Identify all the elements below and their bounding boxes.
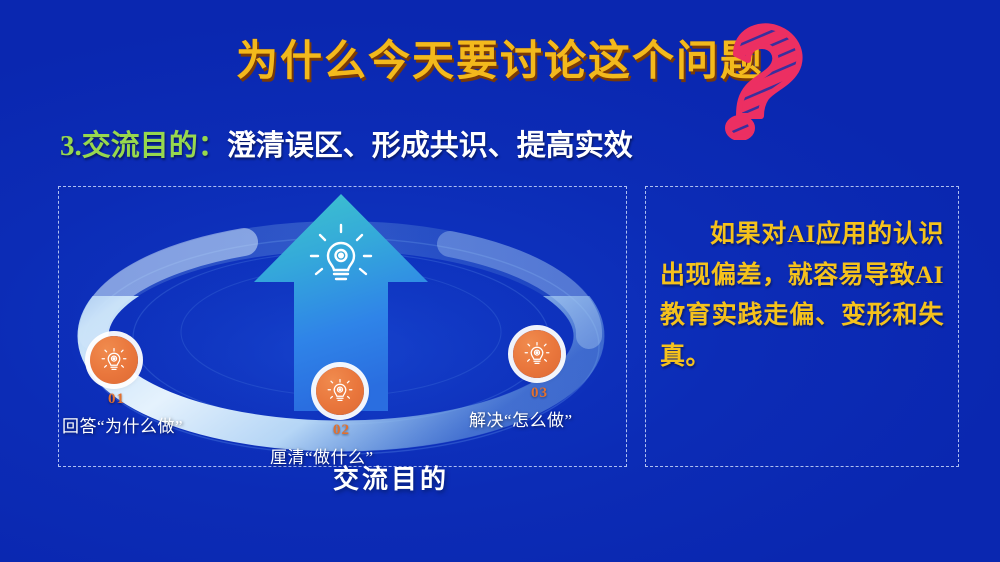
subtitle-index: 3.交流目的： [60, 130, 227, 162]
node-number-01: 01 [108, 391, 125, 408]
node-label-01: 回答“为什么做” [62, 412, 183, 437]
subtitle-text: 澄清误区、形成共识、提高实效 [227, 130, 633, 162]
node-number-03: 03 [531, 385, 548, 402]
page-title: 为什么今天要讨论这个问题 [0, 27, 1000, 88]
node-label-02: 厘清“做什么” [270, 443, 374, 468]
purpose-diagram: 交流目的 01 回答“为 [58, 186, 625, 465]
diagram-node-02[interactable] [316, 367, 364, 415]
node-number-02: 02 [333, 422, 350, 439]
diagram-node-03[interactable] [513, 330, 561, 378]
question-mark-icon [706, 18, 814, 140]
slide-canvas: 为什么今天要讨论这个问题 [0, 0, 1000, 562]
lightbulb-icon [101, 347, 127, 373]
callout-text: 如果对AI应用的认识出现偏差，就容易导致AI教育实践走偏、变形和失真。 [660, 215, 944, 377]
diagram-node-01[interactable] [90, 336, 138, 384]
subtitle: 3.交流目的：澄清误区、形成共识、提高实效 [60, 122, 633, 164]
lightbulb-icon [327, 378, 353, 404]
lightbulb-icon [524, 341, 550, 367]
node-label-03: 解决“怎么做” [469, 406, 573, 431]
